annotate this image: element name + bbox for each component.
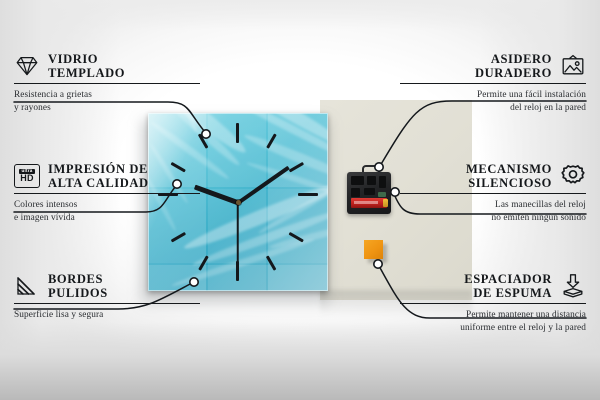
feature-title-line1: ESPACIADOR <box>464 272 552 286</box>
clock-second-hand <box>237 202 239 270</box>
ultra-hd-icon: ultra HD <box>14 164 40 188</box>
feature-description: Resistencia a grietas y rayones <box>14 89 200 114</box>
battery-label <box>354 201 378 204</box>
feature-rule <box>14 193 200 194</box>
feature-title-line1: MECANISMO <box>466 162 552 176</box>
feature-description: Superficie lisa y segura <box>14 309 200 322</box>
feature-title-line2: ALTA CALIDAD <box>48 176 149 190</box>
feature-title-line1: BORDES <box>48 272 108 286</box>
feature-title-line2: DE ESPUMA <box>464 286 552 300</box>
feature-title-line1: IMPRESIÓN DE <box>48 162 149 176</box>
feature-espaciador-de-espuma: ESPACIADOR DE ESPUMA Permite mantener un… <box>400 272 586 334</box>
ultra-hd-badge-bottom: HD <box>20 174 33 183</box>
clock-center-pivot <box>236 200 241 205</box>
feature-mecanismo-silencioso: MECANISMO SILENCIOSO Las manecillas del … <box>400 162 586 224</box>
feature-description: Las manecillas del reloj no emiten ningú… <box>400 199 586 224</box>
feature-title-line2: TEMPLADO <box>48 66 125 80</box>
polished-edges-icon <box>14 273 40 299</box>
feature-rule <box>14 83 200 84</box>
foam-spacer-sample <box>364 240 383 259</box>
diamond-icon <box>14 53 40 79</box>
feature-bordes-pulidos: BORDES PULIDOS Superficie lisa y segura <box>14 272 200 322</box>
feature-title-line2: PULIDOS <box>48 286 108 300</box>
feature-impresion-alta-calidad: ultra HD IMPRESIÓN DE ALTA CALIDAD Color… <box>14 162 200 224</box>
feature-title-line1: VIDRIO <box>48 52 125 66</box>
feature-rule <box>400 193 586 194</box>
feature-rule <box>400 303 586 304</box>
feature-vidrio-templado: VIDRIO TEMPLADO Resistencia a grietas y … <box>14 52 200 114</box>
feature-title-line2: SILENCIOSO <box>466 176 552 190</box>
feature-title-line2: DURADERO <box>475 66 552 80</box>
gear-icon <box>560 163 586 189</box>
feature-rule <box>14 303 200 304</box>
battery-positive-terminal <box>383 199 388 207</box>
feature-rule <box>400 83 586 84</box>
foam-spacer-icon <box>560 273 586 299</box>
feature-description: Permite mantener una distancia uniforme … <box>400 309 586 334</box>
feature-asidero-duradero: ASIDERO DURADERO Permite una fácil insta… <box>400 52 586 114</box>
feature-description: Colores intensos e imagen vívida <box>14 199 200 224</box>
infographic-canvas: VIDRIO TEMPLADO Resistencia a grietas y … <box>0 0 600 400</box>
picture-hanger-icon <box>560 53 586 79</box>
feature-description: Permite una fácil instalación del reloj … <box>400 89 586 114</box>
feature-title-line1: ASIDERO <box>475 52 552 66</box>
